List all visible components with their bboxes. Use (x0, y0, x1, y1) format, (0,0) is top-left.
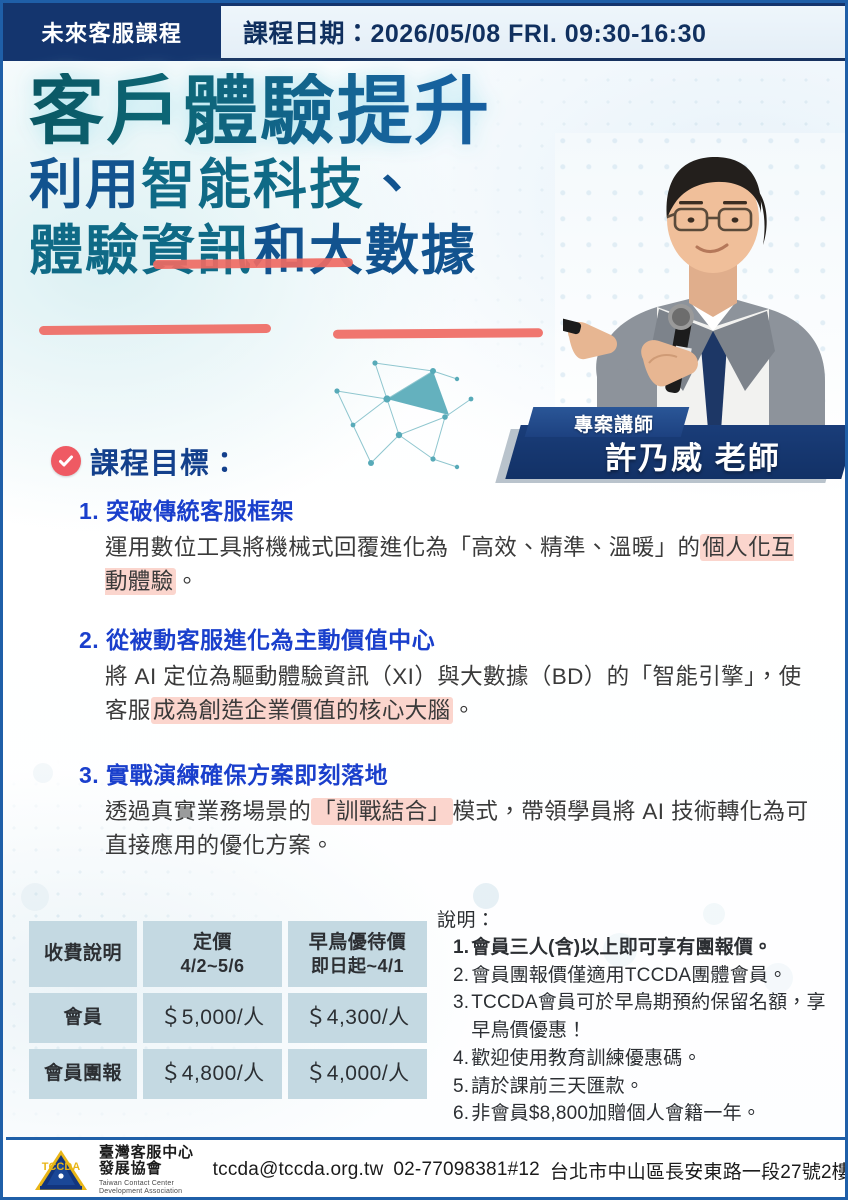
note-number: 2. (453, 962, 469, 990)
speaker-name-ribbon: 專案講師 許乃威 老師 (493, 407, 848, 487)
bokeh-dot (21, 883, 49, 911)
note-item: 1. 會員三人(含)以上即可享有團報價。 (437, 934, 837, 962)
footer-org-cn: 臺灣客服中心發展協會 (99, 1145, 203, 1178)
fee-table-row-label-1: 會員團報 (29, 1049, 137, 1099)
goal-number-2: 2. (79, 627, 99, 653)
goal-title-1: 1. 突破傳統客服框架 (79, 492, 809, 526)
goals-heading: 課程目標： (51, 440, 240, 482)
footer-org-en: Taiwan Contact Center Development Associ… (99, 1180, 203, 1195)
note-item: 2. 會員團報價僅適用TCCDA團體會員。 (437, 962, 837, 990)
course-date-label: 課程日期：2026/05/08 FRI. 09:30-16:30 (243, 3, 706, 61)
goal-body-1: 運用數位工具將機械式回覆進化為「高效、精準、溫暖」的個人化互動體驗。 (79, 531, 809, 599)
goal-number-1: 1. (79, 498, 99, 524)
course-poster: 未來客服課程 課程日期：2026/05/08 FRI. 09:30-16:30 … (0, 0, 848, 1200)
goal-title-text-2: 從被動客服進化為主動價值中心 (106, 627, 435, 653)
fee-table-header-1-title: 定價 (193, 932, 232, 953)
goal-body-post-1: 。 (176, 569, 199, 594)
underline-stroke-experience-info (39, 324, 271, 335)
speaker-name-label: 許乃威 老師 (553, 433, 833, 477)
note-text: 非會員$8,800加贈個人會籍一年。 (471, 1100, 837, 1128)
goal-body-3: 透過真實業務場景的「訓戰結合」模式，帶領學員將 AI 技術轉化為可直接應用的優化… (79, 795, 809, 863)
bokeh-dot (33, 763, 53, 783)
tccda-logo-icon: TCCDA (33, 1148, 89, 1192)
goal-title-2: 2. 從被動客服進化為主動價值中心 (79, 621, 809, 655)
goal-body-post-2: 。 (453, 698, 476, 723)
goal-body-2: 將 AI 定位為驅動體驗資訊（XI）與大數據（BD）的「智能引擎」，使客服成為創… (79, 660, 809, 728)
svg-text:TCCDA: TCCDA (42, 1161, 81, 1173)
notes-block: 說明： 1. 會員三人(含)以上即可享有團報價。 2. 會員團報價僅適用TCCD… (437, 905, 837, 1128)
goal-item-3: 3. 實戰演練確保方案即刻落地 透過真實業務場景的「訓戰結合」模式，帶領學員將 … (79, 756, 809, 863)
goal-number-3: 3. (79, 762, 99, 788)
notes-heading: 說明： (437, 905, 837, 932)
goal-title-text-1: 突破傳統客服框架 (106, 498, 294, 524)
fee-table-row-price-0: ＄5,000/人 (143, 993, 282, 1043)
footer-org: 臺灣客服中心發展協會 Taiwan Contact Center Develop… (99, 1145, 203, 1195)
goal-item-1: 1. 突破傳統客服框架 運用數位工具將機械式回覆進化為「高效、精準、溫暖」的個人… (79, 492, 809, 599)
header-bar: 未來客服課程 課程日期：2026/05/08 FRI. 09:30-16:30 (3, 3, 848, 61)
note-text: 會員三人(含)以上即可享有團報價。 (471, 934, 837, 962)
note-number: 1. (453, 934, 469, 962)
note-text: 請於課前三天匯款。 (471, 1073, 837, 1101)
check-circle-icon (51, 446, 81, 476)
underline-stroke-big-data (333, 328, 543, 338)
fee-table-header-0: 收費說明 (29, 921, 137, 987)
note-text: 會員團報價僅適用TCCDA團體會員。 (471, 962, 837, 990)
fee-table-row-price-1: ＄4,800/人 (143, 1049, 282, 1099)
fee-table-row-label-0: 會員 (29, 993, 137, 1043)
goal-body-highlight-3: 「訓戰結合」 (311, 798, 452, 825)
footer-address: 台北市中山區長安東路一段27號2樓 (550, 1157, 848, 1184)
fee-table: 收費說明 定價 4/2~5/6 早鳥優待價 即日起~4/1 會員 ＄5,000/… (29, 921, 427, 1099)
note-item: 5. 請於課前三天匯款。 (437, 1073, 837, 1101)
note-item: 6. 非會員$8,800加贈個人會籍一年。 (437, 1100, 837, 1128)
subtitle-text-c: 、 (365, 155, 421, 215)
subtitle-text-e: 和 (253, 221, 309, 281)
fee-table-row-early-1: ＄4,000/人 (288, 1049, 427, 1099)
goal-body-highlight-2: 成為創造企業價值的核心大腦 (151, 697, 453, 724)
note-number: 6. (453, 1100, 469, 1128)
goal-title-text-3: 實戰演練確保方案即刻落地 (106, 762, 388, 788)
note-number: 4. (453, 1045, 469, 1073)
subtitle-text-b: 智能科技 (141, 155, 365, 215)
goal-item-2: 2. 從被動客服進化為主動價值中心 將 AI 定位為驅動體驗資訊（XI）與大數據… (79, 621, 809, 728)
note-number: 5. (453, 1073, 469, 1101)
subtitle-text-f: 大數據 (309, 221, 477, 281)
goal-title-3: 3. 實戰演練確保方案即刻落地 (79, 756, 809, 790)
note-item: 3. TCCDA會員可於早鳥期預約保留名額，享早鳥價優惠！ (437, 989, 837, 1044)
course-category-badge: 未來客服課程 (3, 3, 221, 61)
subtitle-text-d: 體驗資訊 (29, 221, 253, 281)
fee-table-row-early-0: ＄4,300/人 (288, 993, 427, 1043)
footer-phone[interactable]: 02-77098381#12 (393, 1159, 540, 1181)
fee-table-header-2-title: 早鳥優待價 (309, 932, 407, 953)
goal-body-pre-1: 運用數位工具將機械式回覆進化為「高效、精準、溫暖」的 (105, 535, 700, 560)
note-text: 歡迎使用教育訓練優惠碼。 (471, 1045, 837, 1073)
fee-table-header-2-sub: 即日起~4/1 (309, 955, 407, 978)
fee-table-header-1-sub: 4/2~5/6 (180, 955, 244, 978)
goals-heading-label: 課程目標： (90, 440, 240, 482)
course-category-label: 未來客服課程 (41, 16, 182, 48)
note-number: 3. (453, 989, 469, 1044)
note-text: TCCDA會員可於早鳥期預約保留名額，享早鳥價優惠！ (471, 989, 837, 1044)
goal-body-pre-3: 透過真實業務場景的 (105, 799, 311, 824)
footer: TCCDA 臺灣客服中心發展協會 Taiwan Contact Center D… (3, 1140, 848, 1200)
footer-email[interactable]: tccda@tccda.org.tw (213, 1159, 384, 1181)
note-item: 4. 歡迎使用教育訓練優惠碼。 (437, 1045, 837, 1073)
subtitle-text-a: 利用 (29, 155, 141, 215)
fee-table-header-1: 定價 4/2~5/6 (143, 921, 282, 987)
fee-table-header-2: 早鳥優待價 即日起~4/1 (288, 921, 427, 987)
